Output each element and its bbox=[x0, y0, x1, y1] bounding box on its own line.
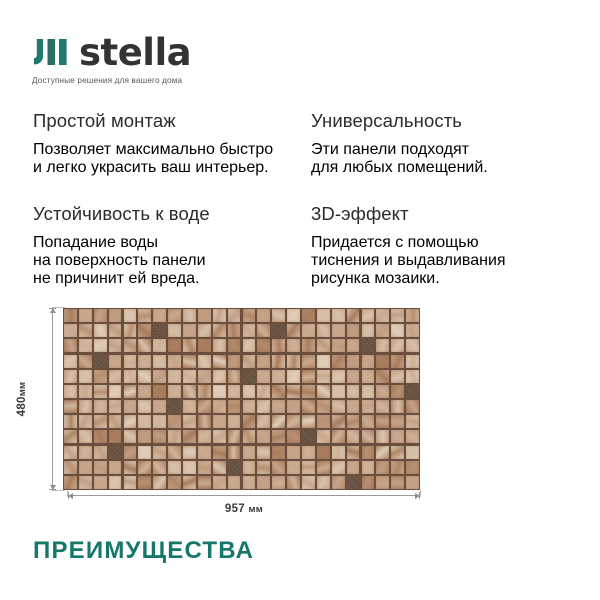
mosaic-tile bbox=[183, 430, 196, 443]
feature-item: Универсальность Эти панели подходят для … bbox=[311, 110, 567, 177]
mosaic-tile bbox=[228, 339, 241, 352]
mosaic-tile bbox=[198, 430, 211, 443]
mosaic-tile bbox=[79, 415, 92, 428]
mosaic-tile bbox=[272, 385, 285, 398]
mosaic-tile bbox=[406, 339, 419, 352]
mosaic-tile bbox=[391, 415, 404, 428]
mosaic-tile bbox=[124, 446, 137, 459]
mosaic-tile bbox=[272, 370, 285, 383]
mosaic-tile bbox=[391, 446, 404, 459]
mosaic-tile bbox=[347, 385, 360, 398]
mosaic-tile bbox=[272, 339, 285, 352]
mosaic-tile bbox=[317, 309, 330, 322]
mosaic-tile bbox=[243, 415, 256, 428]
mosaic-tile bbox=[213, 309, 226, 322]
mosaic-accent-tile bbox=[109, 446, 122, 459]
mosaic-tile bbox=[64, 446, 77, 459]
mosaic-tile bbox=[168, 370, 181, 383]
mosaic-accent-tile bbox=[406, 385, 419, 398]
mosaic-tile bbox=[109, 355, 122, 368]
feature-body-line: и легко украсить ваш интерьер. bbox=[33, 159, 311, 177]
mosaic-tile bbox=[94, 400, 107, 413]
mosaic-tile bbox=[79, 446, 92, 459]
mosaic-tile bbox=[317, 476, 330, 489]
mosaic-tile bbox=[124, 461, 137, 474]
mosaic-tile bbox=[406, 370, 419, 383]
mosaic-tile bbox=[317, 446, 330, 459]
mosaic-tile bbox=[302, 355, 315, 368]
mosaic-tile bbox=[257, 415, 270, 428]
mosaic-tile bbox=[124, 476, 137, 489]
mosaic-tile bbox=[332, 476, 345, 489]
mosaic-tile bbox=[272, 415, 285, 428]
mosaic-tile bbox=[138, 461, 151, 474]
mosaic-tile bbox=[228, 385, 241, 398]
mosaic-tile bbox=[64, 461, 77, 474]
mosaic-tile bbox=[124, 370, 137, 383]
mosaic-tile bbox=[153, 339, 166, 352]
mosaic-accent-tile bbox=[94, 355, 107, 368]
mosaic-tile bbox=[153, 415, 166, 428]
mosaic-tile bbox=[257, 355, 270, 368]
mosaic-tile bbox=[183, 400, 196, 413]
logo-wordmark: stella bbox=[79, 34, 191, 71]
mosaic-tile bbox=[302, 446, 315, 459]
mosaic-tile bbox=[94, 339, 107, 352]
mosaic-tile bbox=[168, 461, 181, 474]
mosaic-tile bbox=[64, 476, 77, 489]
mosaic-tile bbox=[347, 446, 360, 459]
mosaic-tile bbox=[138, 446, 151, 459]
mosaic-tile bbox=[183, 385, 196, 398]
mosaic-tile bbox=[64, 385, 77, 398]
mosaic-tile bbox=[362, 461, 375, 474]
mosaic-tile bbox=[228, 324, 241, 337]
mosaic-tile bbox=[168, 430, 181, 443]
mosaic-tile bbox=[228, 355, 241, 368]
mosaic-tile bbox=[362, 415, 375, 428]
mosaic-tile bbox=[138, 476, 151, 489]
mosaic-tile bbox=[362, 385, 375, 398]
mosaic-tile bbox=[109, 339, 122, 352]
mosaic-tile bbox=[168, 415, 181, 428]
mosaic-tile bbox=[138, 324, 151, 337]
mosaic-tile bbox=[272, 461, 285, 474]
mosaic-tile bbox=[198, 339, 211, 352]
mosaic-tile bbox=[79, 461, 92, 474]
mosaic-tile bbox=[391, 324, 404, 337]
mosaic-tile bbox=[332, 461, 345, 474]
mosaic-tile bbox=[391, 370, 404, 383]
mosaic-accent-tile bbox=[228, 461, 241, 474]
mosaic-tile bbox=[64, 370, 77, 383]
mosaic-tile bbox=[109, 461, 122, 474]
feature-body-line: Эти панели подходят bbox=[311, 141, 567, 159]
mosaic-tile bbox=[287, 355, 300, 368]
mosaic-tile bbox=[376, 476, 389, 489]
mosaic-tile bbox=[183, 355, 196, 368]
mosaic-tile bbox=[64, 309, 77, 322]
mosaic-tile bbox=[213, 476, 226, 489]
width-unit: мм bbox=[248, 504, 263, 515]
mosaic-tile bbox=[198, 461, 211, 474]
mosaic-tile bbox=[362, 476, 375, 489]
mosaic-tile bbox=[79, 476, 92, 489]
mosaic-tile bbox=[362, 355, 375, 368]
mosaic-tile bbox=[376, 355, 389, 368]
mosaic-tile bbox=[94, 415, 107, 428]
feature-grid: Простой монтаж Позволяет максимально быс… bbox=[33, 110, 567, 314]
mosaic-tile bbox=[228, 476, 241, 489]
mosaic-tile bbox=[94, 324, 107, 337]
mosaic-tile bbox=[272, 355, 285, 368]
mosaic-tile bbox=[406, 355, 419, 368]
mosaic-tile bbox=[406, 476, 419, 489]
mosaic-tile bbox=[272, 446, 285, 459]
mosaic-tile bbox=[79, 324, 92, 337]
mosaic-tile bbox=[272, 309, 285, 322]
stella-bars-logo-icon bbox=[32, 37, 70, 67]
mosaic-tile bbox=[391, 400, 404, 413]
mosaic-tile bbox=[347, 430, 360, 443]
mosaic-tile bbox=[183, 446, 196, 459]
mosaic-tile bbox=[391, 355, 404, 368]
mosaic-tile bbox=[94, 370, 107, 383]
mosaic-tile bbox=[153, 461, 166, 474]
mosaic-tile bbox=[79, 370, 92, 383]
arrow-down-icon bbox=[50, 485, 56, 490]
mosaic-tile bbox=[198, 355, 211, 368]
mosaic-tile bbox=[94, 476, 107, 489]
mosaic-tile bbox=[257, 446, 270, 459]
mosaic-tile bbox=[228, 446, 241, 459]
mosaic-tile bbox=[243, 400, 256, 413]
logo-tagline: Доступные решения для вашего дома bbox=[32, 76, 191, 85]
mosaic-tile bbox=[243, 476, 256, 489]
mosaic-tile bbox=[362, 446, 375, 459]
section-heading-advantages: ПРЕИМУЩЕСТВА bbox=[33, 537, 254, 565]
mosaic-tile bbox=[168, 324, 181, 337]
mosaic-tile bbox=[79, 355, 92, 368]
mosaic-tile bbox=[287, 400, 300, 413]
mosaic-tile bbox=[391, 385, 404, 398]
mosaic-tile bbox=[376, 324, 389, 337]
mosaic-tile bbox=[198, 370, 211, 383]
mosaic-tile bbox=[64, 400, 77, 413]
mosaic-tile bbox=[257, 400, 270, 413]
mosaic-tile bbox=[109, 430, 122, 443]
mosaic-tile bbox=[317, 430, 330, 443]
feature-body-line: на поверхность панели bbox=[33, 252, 311, 270]
mosaic-tile bbox=[406, 461, 419, 474]
mosaic-tile bbox=[332, 400, 345, 413]
mosaic-tile bbox=[257, 309, 270, 322]
mosaic-tile bbox=[79, 400, 92, 413]
mosaic-tile bbox=[376, 415, 389, 428]
mosaic-tile bbox=[198, 309, 211, 322]
mosaic-tile bbox=[332, 415, 345, 428]
mosaic-tile bbox=[347, 309, 360, 322]
mosaic-tile bbox=[168, 339, 181, 352]
mosaic-tile bbox=[213, 324, 226, 337]
mosaic-tile bbox=[257, 461, 270, 474]
mosaic-tile bbox=[332, 385, 345, 398]
mosaic-accent-tile bbox=[153, 324, 166, 337]
mosaic-tile bbox=[257, 430, 270, 443]
feature-body-line: Позволяет максимально быстро bbox=[33, 141, 311, 159]
mosaic-tile bbox=[138, 400, 151, 413]
mosaic-tile bbox=[391, 461, 404, 474]
mosaic-tile bbox=[138, 415, 151, 428]
mosaic-tile bbox=[287, 415, 300, 428]
mosaic-tile bbox=[64, 415, 77, 428]
mosaic-tile bbox=[79, 309, 92, 322]
mosaic-tile bbox=[228, 370, 241, 383]
mosaic-tile bbox=[109, 476, 122, 489]
mosaic-tile bbox=[153, 446, 166, 459]
mosaic-tile bbox=[94, 385, 107, 398]
mosaic-tile bbox=[302, 476, 315, 489]
mosaic-tile bbox=[317, 324, 330, 337]
feature-title: 3D-эффект bbox=[311, 203, 567, 225]
feature-body-line: рисунка мозаики. bbox=[311, 270, 567, 288]
mosaic-tile bbox=[347, 339, 360, 352]
feature-title: Универсальность bbox=[311, 110, 567, 132]
mosaic-tile bbox=[376, 461, 389, 474]
mosaic-tile bbox=[302, 385, 315, 398]
mosaic-tile bbox=[124, 355, 137, 368]
width-value: 957 bbox=[225, 503, 245, 515]
feature-row-1: Простой монтаж Позволяет максимально быс… bbox=[33, 110, 567, 203]
mosaic-tile bbox=[332, 324, 345, 337]
mosaic-tile bbox=[332, 370, 345, 383]
mosaic-tile bbox=[287, 370, 300, 383]
logo-row: stella bbox=[32, 32, 191, 72]
mosaic-tile bbox=[317, 415, 330, 428]
feature-column-right: 3D-эффект Придается с помощью тиснения и… bbox=[311, 203, 567, 314]
mosaic-tile bbox=[391, 309, 404, 322]
mosaic-tile bbox=[109, 309, 122, 322]
mosaic-tile bbox=[272, 476, 285, 489]
mosaic-tile bbox=[406, 430, 419, 443]
mosaic-tile bbox=[332, 430, 345, 443]
mosaic-tile bbox=[287, 309, 300, 322]
width-dimension-label: 957 мм bbox=[225, 503, 263, 515]
mosaic-tile bbox=[94, 309, 107, 322]
mosaic-tile bbox=[183, 476, 196, 489]
mosaic-tile bbox=[317, 355, 330, 368]
mosaic-tile bbox=[94, 446, 107, 459]
mosaic-tile bbox=[302, 370, 315, 383]
mosaic-tile bbox=[243, 446, 256, 459]
mosaic-tile bbox=[183, 309, 196, 322]
mosaic-accent-tile bbox=[272, 324, 285, 337]
mosaic-tile bbox=[183, 370, 196, 383]
mosaic-tile bbox=[302, 415, 315, 428]
mosaic-tile bbox=[228, 400, 241, 413]
mosaic-tile bbox=[243, 309, 256, 322]
mosaic-tile bbox=[64, 355, 77, 368]
height-dimension-line bbox=[52, 308, 53, 490]
mosaic-tile bbox=[347, 415, 360, 428]
width-dimension-line bbox=[68, 495, 420, 496]
mosaic-tile bbox=[347, 400, 360, 413]
feature-item: Простой монтаж Позволяет максимально быс… bbox=[33, 110, 311, 177]
mosaic-tile bbox=[287, 385, 300, 398]
mosaic-tile bbox=[347, 370, 360, 383]
mosaic-tile bbox=[287, 461, 300, 474]
mosaic-tile bbox=[213, 415, 226, 428]
mosaic-tile bbox=[243, 355, 256, 368]
mosaic-tile bbox=[153, 370, 166, 383]
feature-row-2: Устойчивость к воде Попадание воды на по… bbox=[33, 203, 567, 314]
mosaic-tile bbox=[257, 324, 270, 337]
feature-item: Устойчивость к воде Попадание воды на по… bbox=[33, 203, 311, 288]
mosaic-tile bbox=[362, 430, 375, 443]
mosaic-tile bbox=[79, 339, 92, 352]
mosaic-tile bbox=[124, 385, 137, 398]
mosaic-tile bbox=[376, 339, 389, 352]
mosaic-tile bbox=[406, 400, 419, 413]
mosaic-tile bbox=[317, 339, 330, 352]
mosaic-tile bbox=[138, 309, 151, 322]
mosaic-tile bbox=[302, 324, 315, 337]
mosaic-tile bbox=[347, 355, 360, 368]
brand-logo: stella Доступные решения для вашего дома bbox=[32, 32, 191, 85]
mosaic-tile bbox=[168, 446, 181, 459]
mosaic-tile bbox=[183, 324, 196, 337]
mosaic-tile bbox=[79, 385, 92, 398]
mosaic-tile bbox=[198, 446, 211, 459]
mosaic-tile bbox=[198, 324, 211, 337]
mosaic-tile bbox=[257, 339, 270, 352]
mosaic-tile bbox=[213, 461, 226, 474]
mosaic-tile bbox=[213, 355, 226, 368]
mosaic-tile bbox=[94, 430, 107, 443]
mosaic-tile bbox=[213, 430, 226, 443]
mosaic-tile bbox=[406, 415, 419, 428]
mosaic-tile bbox=[109, 385, 122, 398]
mosaic-tile bbox=[183, 415, 196, 428]
mosaic-tile bbox=[109, 324, 122, 337]
mosaic-tile bbox=[198, 385, 211, 398]
mosaic-tile bbox=[257, 370, 270, 383]
mosaic-tile bbox=[287, 339, 300, 352]
mosaic-accent-tile bbox=[168, 400, 181, 413]
mosaic-tile bbox=[198, 476, 211, 489]
mosaic-tile bbox=[153, 476, 166, 489]
mosaic-tile bbox=[153, 385, 166, 398]
mosaic-tile bbox=[213, 446, 226, 459]
mosaic-tile bbox=[138, 339, 151, 352]
mosaic-tile bbox=[391, 339, 404, 352]
mosaic-tile bbox=[198, 415, 211, 428]
mosaic-tile bbox=[228, 415, 241, 428]
mosaic-tile bbox=[138, 385, 151, 398]
mosaic-tile bbox=[302, 400, 315, 413]
mosaic-tile bbox=[213, 370, 226, 383]
mosaic-tile bbox=[168, 476, 181, 489]
mosaic-tile bbox=[287, 430, 300, 443]
mosaic-tile bbox=[332, 339, 345, 352]
mosaic-accent-tile bbox=[347, 476, 360, 489]
feature-column-right: Универсальность Эти панели подходят для … bbox=[311, 110, 567, 203]
mosaic-tile bbox=[406, 446, 419, 459]
feature-body-line: для любых помещений. bbox=[311, 159, 567, 177]
mosaic-tile bbox=[272, 430, 285, 443]
mosaic-tile bbox=[243, 339, 256, 352]
mosaic-tile bbox=[168, 309, 181, 322]
feature-column-left: Простой монтаж Позволяет максимально быс… bbox=[33, 110, 311, 203]
mosaic-tile bbox=[243, 461, 256, 474]
mosaic-tile bbox=[287, 324, 300, 337]
mosaic-tile bbox=[347, 324, 360, 337]
mosaic-tile bbox=[332, 355, 345, 368]
feature-item: 3D-эффект Придается с помощью тиснения и… bbox=[311, 203, 567, 288]
arrow-right-icon bbox=[415, 493, 420, 499]
mosaic-tile bbox=[302, 461, 315, 474]
mosaic-accent-tile bbox=[302, 430, 315, 443]
mosaic-tile bbox=[124, 415, 137, 428]
mosaic-tile bbox=[109, 400, 122, 413]
mosaic-panel-photo[interactable] bbox=[63, 308, 420, 490]
feature-body-line: Придается с помощью bbox=[311, 234, 567, 252]
mosaic-tile bbox=[64, 339, 77, 352]
mosaic-tile bbox=[213, 400, 226, 413]
height-value: 480 bbox=[16, 396, 28, 416]
mosaic-tile bbox=[153, 355, 166, 368]
mosaic-tile bbox=[243, 385, 256, 398]
mosaic-tile bbox=[376, 309, 389, 322]
mosaic-tile bbox=[153, 309, 166, 322]
mosaic-tile bbox=[183, 339, 196, 352]
mosaic-tile bbox=[168, 355, 181, 368]
mosaic-tile bbox=[362, 400, 375, 413]
mosaic-tile bbox=[138, 430, 151, 443]
mosaic-tile bbox=[124, 309, 137, 322]
mosaic-tile bbox=[79, 430, 92, 443]
feature-body-line: Попадание воды bbox=[33, 234, 311, 252]
mosaic-tile bbox=[302, 309, 315, 322]
feature-body-line: не причинит ей вреда. bbox=[33, 270, 311, 288]
height-unit: мм bbox=[17, 382, 28, 397]
mosaic-tile bbox=[124, 400, 137, 413]
mosaic-tile bbox=[228, 430, 241, 443]
mosaic-tile bbox=[362, 370, 375, 383]
mosaic-tile bbox=[124, 339, 137, 352]
mosaic-tile bbox=[183, 461, 196, 474]
mosaic-tile bbox=[287, 476, 300, 489]
mosaic-tile bbox=[287, 446, 300, 459]
feature-column-left: Устойчивость к воде Попадание воды на по… bbox=[33, 203, 311, 314]
mosaic-tile bbox=[243, 430, 256, 443]
extension-line-right bbox=[420, 490, 421, 497]
mosaic-tile bbox=[109, 415, 122, 428]
mosaic-accent-tile bbox=[362, 339, 375, 352]
mosaic-tile bbox=[272, 400, 285, 413]
height-dimension-label: 480мм bbox=[16, 382, 28, 417]
mosaic-tile bbox=[317, 461, 330, 474]
arrow-left-icon bbox=[68, 493, 73, 499]
mosaic-tile bbox=[109, 370, 122, 383]
mosaic-tile bbox=[376, 430, 389, 443]
mosaic-tile bbox=[317, 400, 330, 413]
mosaic-tile bbox=[376, 446, 389, 459]
mosaic-tile bbox=[94, 461, 107, 474]
extension-line-bottom bbox=[52, 490, 65, 491]
mosaic-tile bbox=[153, 430, 166, 443]
mosaic-tile bbox=[64, 430, 77, 443]
